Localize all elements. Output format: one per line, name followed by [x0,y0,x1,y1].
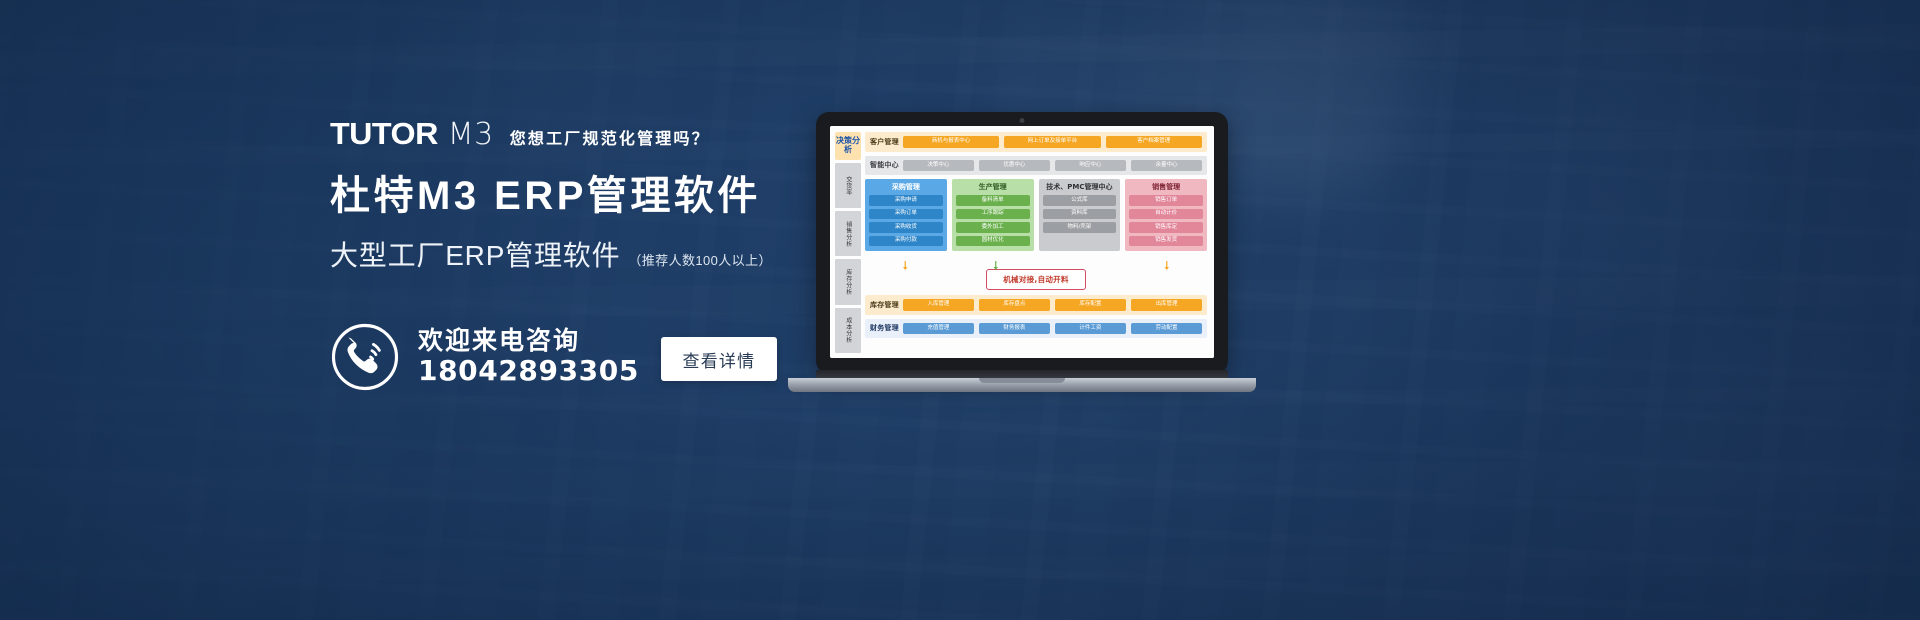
diagram-arrows [865,255,1207,264]
diagram-columns: 采购管理 采购申请 采购订单 采购收货 采购付款 生产管理 备料清单 工序跟踪 … [865,179,1207,251]
page-title: 杜特M3 ERP管理软件 [330,174,850,218]
hero-banner: TUTOR M3 您想工厂规范化管理吗？ 杜特M3 ERP管理软件 大型工厂ER… [0,0,1920,620]
brand-tagline: 您想工厂规范化管理吗？ [508,132,710,148]
column-production: 生产管理 备料清单 工序跟踪 委外加工 圆材优化 [952,179,1034,251]
chip[interactable]: 库存配置 [1055,299,1126,311]
rail-item-label: 成本分析 [844,317,852,343]
band-title: 库存管理 [870,300,899,310]
column-item[interactable]: 采购申请 [869,195,943,206]
rail-item-1[interactable]: 销售分析 [835,211,861,256]
phone-ring-icon [330,322,400,392]
subtitle-row: 大型工厂ERP管理软件 （推荐人数100人以上） [330,242,850,270]
chip[interactable]: 库存盘点 [979,299,1050,311]
chip[interactable]: 响应中心 [1055,160,1126,172]
rail-header: 决策分析 [835,132,861,160]
column-item[interactable]: 公式库 [1043,195,1117,206]
column-tech-pmc: 技术、PMC管理中心 公式库 资料库 物料/壳架 [1039,179,1121,251]
column-sales: 销售管理 销售订单 自动计价 销售库定 销售发货 [1125,179,1207,251]
chip[interactable]: 决策中心 [903,160,974,172]
rail-item-label: 销售分析 [844,221,852,247]
subtitle-note: （推荐人数100人以上） [628,250,772,269]
brand-logo: TUTOR M3 您想工厂规范化管理吗？ [330,118,850,152]
contact-welcome: 欢迎来电咨询 [418,327,639,355]
rail-item-0[interactable]: 交货率 [835,163,861,208]
column-item[interactable]: 工序跟踪 [956,209,1030,220]
column-title: 销售管理 [1129,183,1203,191]
band-finance: 财务管理 充值管理 财务报表 计件工资 劳动配置 [865,319,1207,339]
chip[interactable]: 余量中心 [1131,160,1202,172]
diagram-main: 客户管理 商机与报表中心 网上订单及接单平台 客户档案管理 智能中心 决策中心 [865,132,1207,353]
page-subtitle: 大型工厂ERP管理软件 [330,242,620,270]
rail-item-label: 库存分析 [844,269,852,295]
diagram-left-rail: 决策分析 交货率 销售分析 库存分析 成本分析 [835,132,861,353]
laptop-mockup: 决策分析 交货率 销售分析 库存分析 成本分析 客户管理 商机与报表中心 网上订… [788,112,1256,392]
column-item[interactable]: 委外加工 [956,222,1030,233]
rail-item-3[interactable]: 成本分析 [835,308,861,353]
chip[interactable]: 出库管理 [1131,299,1202,311]
chip[interactable]: 劳动配置 [1131,323,1202,335]
column-item[interactable]: 销售订单 [1129,195,1203,206]
band-customer: 客户管理 商机与报表中心 网上订单及接单平台 客户档案管理 [865,132,1207,152]
chip[interactable]: 计件工资 [1055,323,1126,335]
band-chips: 入库管理 库存盘点 库存配置 出库管理 [903,299,1202,311]
band-chips: 充值管理 财务报表 计件工资 劳动配置 [903,323,1202,335]
band-chips: 决策中心 优惠中心 响应中心 余量中心 [903,160,1202,172]
contact-cta-row: 欢迎来电咨询 18042893305 查看详情 [330,322,850,392]
band-chips: 商机与报表中心 网上订单及接单平台 客户档案管理 [903,136,1202,148]
column-item[interactable]: 物料/壳架 [1043,222,1117,233]
column-item[interactable]: 采购付款 [869,236,943,247]
chip[interactable]: 充值管理 [903,323,974,335]
webcam-icon [1020,118,1025,123]
chip[interactable]: 优惠中心 [979,160,1050,172]
laptop-base [788,378,1256,392]
rail-item-label: 交货率 [844,176,852,196]
band-title: 智能中心 [870,160,899,170]
column-title: 生产管理 [956,183,1030,191]
chip[interactable]: 入库管理 [903,299,974,311]
highlight-callout: 机械对接,自动开料 [986,269,1086,290]
band-title: 财务管理 [870,323,899,333]
laptop-lid: 决策分析 交货率 销售分析 库存分析 成本分析 客户管理 商机与报表中心 网上订… [816,112,1228,374]
column-item[interactable]: 采购订单 [869,209,943,220]
laptop-hinge [816,370,1228,378]
column-item[interactable]: 资料库 [1043,209,1117,220]
chip[interactable]: 商机与报表中心 [903,136,999,148]
laptop-screen: 决策分析 交货率 销售分析 库存分析 成本分析 客户管理 商机与报表中心 网上订… [830,126,1214,358]
column-purchase: 采购管理 采购申请 采购订单 采购收货 采购付款 [865,179,947,251]
column-item[interactable]: 销售发货 [1129,236,1203,247]
band-title: 客户管理 [870,137,899,147]
column-item[interactable]: 自动计价 [1129,209,1203,220]
band-smart-center: 智能中心 决策中心 优惠中心 响应中心 余量中心 [865,156,1207,176]
contact-text: 欢迎来电咨询 18042893305 [418,327,639,387]
column-title: 技术、PMC管理中心 [1043,183,1117,191]
column-item[interactable]: 销售库定 [1129,222,1203,233]
contact-phone-number[interactable]: 18042893305 [418,355,639,387]
column-item[interactable]: 圆材优化 [956,236,1030,247]
erp-architecture-diagram: 决策分析 交货率 销售分析 库存分析 成本分析 客户管理 商机与报表中心 网上订… [830,126,1214,358]
brand-model: M3 [448,120,494,150]
band-stock: 库存管理 入库管理 库存盘点 库存配置 出库管理 [865,295,1207,315]
view-details-button[interactable]: 查看详情 [661,337,777,381]
banner-content: TUTOR M3 您想工厂规范化管理吗？ 杜特M3 ERP管理软件 大型工厂ER… [330,118,850,392]
chip[interactable]: 网上订单及接单平台 [1004,136,1100,148]
brand-name: TUTOR [330,118,438,149]
column-item[interactable]: 备料清单 [956,195,1030,206]
column-item[interactable]: 采购收货 [869,222,943,233]
chip[interactable]: 客户档案管理 [1106,136,1202,148]
column-title: 采购管理 [869,183,943,191]
chip[interactable]: 财务报表 [979,323,1050,335]
rail-item-2[interactable]: 库存分析 [835,259,861,304]
